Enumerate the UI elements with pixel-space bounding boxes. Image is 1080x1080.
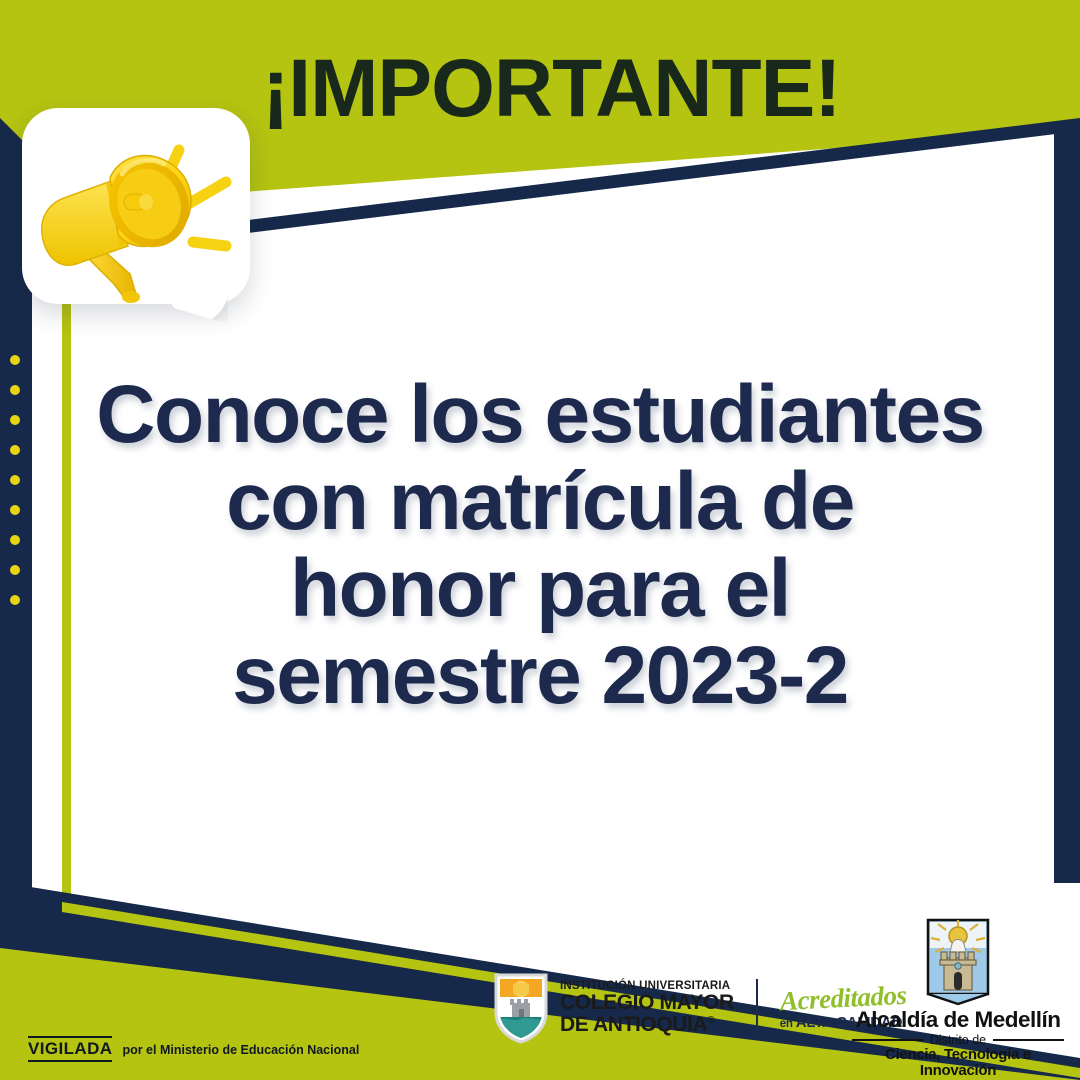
headline-line-1: Conoce los estudiantes bbox=[90, 372, 990, 459]
headline-line-4: semestre 2023-2 bbox=[90, 633, 990, 720]
page-title: Conoce los estudiantes con matrícula de … bbox=[90, 372, 990, 720]
vigilada-rest: por el Ministerio de Educación Nacional bbox=[122, 1043, 359, 1057]
alcaldia-medellin-crest-icon bbox=[922, 918, 994, 1006]
registered-mark: ® bbox=[707, 1015, 714, 1026]
green-vertical-line bbox=[62, 266, 71, 904]
dot bbox=[10, 475, 20, 485]
dot bbox=[10, 415, 20, 425]
dot bbox=[10, 535, 20, 545]
colegio-mayor-wordmark: INSTITUCIÓN UNIVERSITARIA COLEGIO MAYOR … bbox=[560, 981, 734, 1036]
dot bbox=[10, 385, 20, 395]
colegio-mayor-logo: INSTITUCIÓN UNIVERSITARIA COLEGIO MAYOR … bbox=[492, 971, 734, 1045]
dot bbox=[10, 505, 20, 515]
dot bbox=[10, 445, 20, 455]
poster-canvas: ¡IMPORTANTE! Conoce los estudiantes con … bbox=[0, 0, 1080, 1080]
navy-right-bar bbox=[1054, 131, 1080, 883]
cm-line-3-text: DE ANTIOQUIA bbox=[560, 1013, 707, 1036]
megaphone-icon bbox=[18, 118, 258, 318]
cm-line-3: DE ANTIOQUIA® bbox=[560, 1014, 734, 1035]
alcaldia-subtitle-row: Distrito de bbox=[852, 1033, 1064, 1047]
alcaldia-distrito: Distrito de bbox=[930, 1033, 986, 1047]
vigilada-word: VIGILADA bbox=[28, 1036, 112, 1062]
yellow-dot-column bbox=[10, 355, 24, 605]
rule-left bbox=[852, 1039, 923, 1041]
dot bbox=[10, 355, 20, 365]
dot bbox=[10, 565, 20, 575]
alcaldia-department: Ciencia, Tecnología e Innovación bbox=[852, 1047, 1064, 1080]
alcaldia-name: Alcaldía de Medellín bbox=[852, 1008, 1064, 1032]
cm-line-2: COLEGIO MAYOR bbox=[560, 992, 734, 1013]
colegio-mayor-shield-icon bbox=[492, 971, 550, 1045]
headline-line-2: con matrícula de bbox=[90, 459, 990, 546]
headline-line-3: honor para el bbox=[90, 546, 990, 633]
logo-divider bbox=[756, 979, 758, 1037]
alcaldia-medellin-logo: Alcaldía de Medellín Distrito de Ciencia… bbox=[852, 918, 1064, 1080]
kicker-title: ¡IMPORTANTE! bbox=[262, 48, 962, 130]
dot bbox=[10, 595, 20, 605]
footer-logo-group: INSTITUCIÓN UNIVERSITARIA COLEGIO MAYOR … bbox=[492, 966, 906, 1050]
acreditados-en: en bbox=[780, 1018, 796, 1030]
rule-right bbox=[993, 1039, 1064, 1041]
vigilada-disclaimer: VIGILADA por el Ministerio de Educación … bbox=[28, 1036, 359, 1062]
